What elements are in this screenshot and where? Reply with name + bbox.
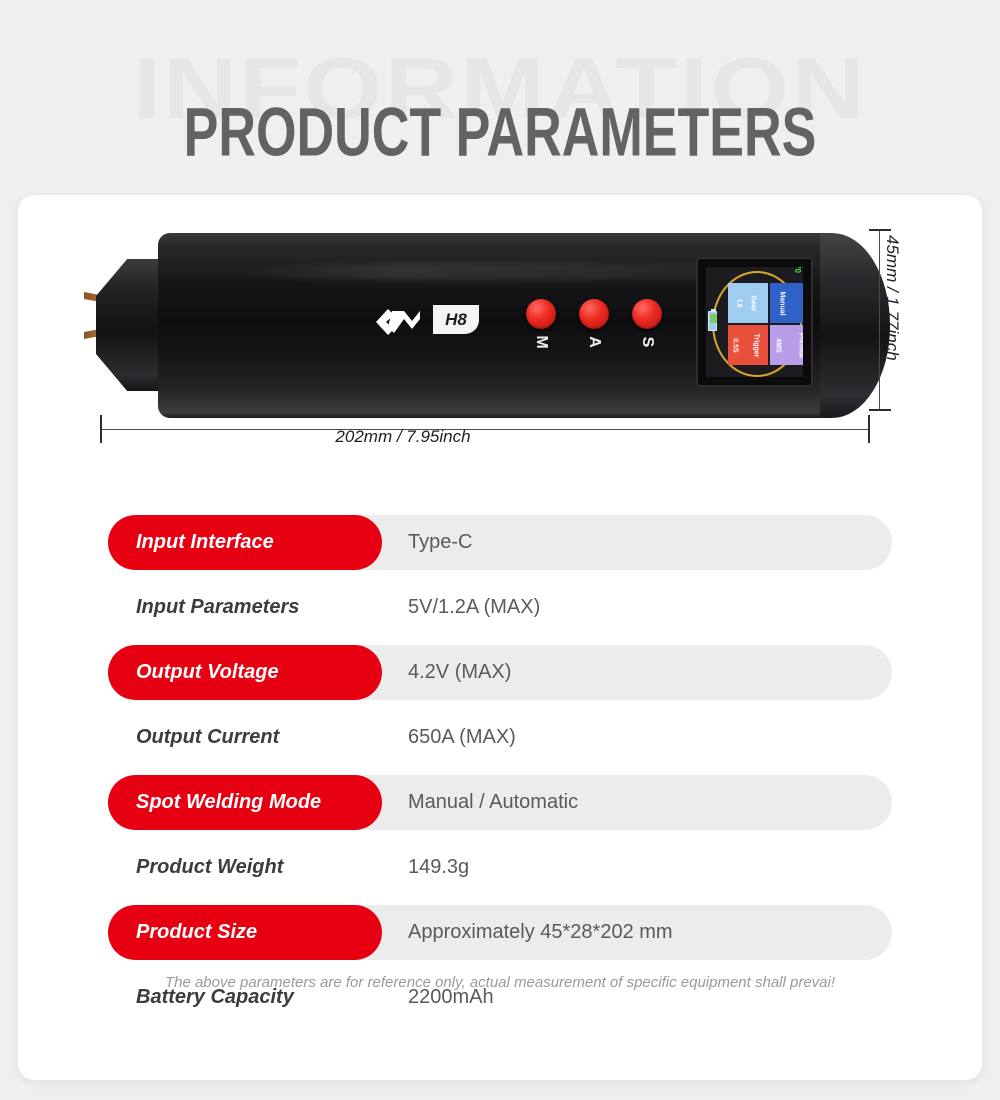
mode-button[interactable] <box>526 299 556 329</box>
spec-value: 4.2V (MAX) <box>408 661 511 684</box>
device-screen: T:270 L6 Gear Manual Mode 0.5S Trigger <box>706 267 803 377</box>
spec-row: Product Size Approximately 45*28*202 mm <box>18 905 982 960</box>
brand-logo-icon <box>374 305 422 339</box>
device-body: H8 M A S T:270 L6 Gear <box>158 233 886 418</box>
battery-icon <box>708 311 717 331</box>
spec-label: Input Parameters <box>108 580 382 635</box>
spec-row: Spot Welding Mode Manual / Automatic <box>18 775 982 830</box>
screen-tile-trigger-value: 0.5S <box>732 338 739 352</box>
model-badge: H8 <box>433 305 479 334</box>
spec-value: Type-C <box>408 531 472 554</box>
spec-row: Output Voltage 4.2V (MAX) <box>18 645 982 700</box>
spec-value: Manual / Automatic <box>408 791 578 814</box>
product-illustration: H8 M A S T:270 L6 Gear <box>18 195 982 495</box>
spec-label: Output Voltage <box>108 645 382 700</box>
screen-tile-preheat-title: Preheat <box>797 332 803 358</box>
screen-tile-mode-value: Manual <box>779 291 786 315</box>
spec-value: Approximately 45*28*202 mm <box>408 921 673 944</box>
spec-label: Output Current <box>108 710 382 765</box>
screen-tile-trigger: 0.5S Trigger <box>728 325 768 365</box>
spec-label: Input Interface <box>108 515 382 570</box>
content-card: H8 M A S T:270 L6 Gear <box>18 195 982 1080</box>
screen-tile-gear-title: Gear <box>750 295 757 311</box>
device-screen-bezel: T:270 L6 Gear Manual Mode 0.5S Trigger <box>696 257 813 387</box>
spec-row: Input Interface Type-C <box>18 515 982 570</box>
spec-row: Product Weight 149.3g <box>18 840 982 895</box>
spec-row: Output Current 650A (MAX) <box>18 710 982 765</box>
mode-button-label: M <box>532 327 550 357</box>
spec-value: 2200mAh <box>408 986 494 1009</box>
spec-label: Battery Capacity <box>108 970 382 1025</box>
screen-tile-trigger-title: Trigger <box>753 333 760 357</box>
page-title: PRODUCT PARAMETERS <box>35 98 965 166</box>
spec-value: 5V/1.2A (MAX) <box>408 596 540 619</box>
screen-tile-gear: L6 Gear <box>728 283 768 323</box>
spec-row: Input Parameters 5V/1.2A (MAX) <box>18 580 982 635</box>
spec-value: 650A (MAX) <box>408 726 516 749</box>
screen-temperature: T:270 <box>793 267 802 273</box>
set-button[interactable] <box>632 299 662 329</box>
screen-tiles: L6 Gear Manual Mode 0.5S Trigger 4MS <box>728 283 790 365</box>
auto-button-label: A <box>585 327 603 357</box>
screen-tile-preheat: 4MS Preheat <box>770 325 803 365</box>
page-header: INFORMATION PRODUCT PARAMETERS <box>0 0 1000 195</box>
length-dimension-label: 202mm / 7.95inch <box>18 427 788 447</box>
spec-label: Product Size <box>108 905 382 960</box>
screen-tile-gear-value: L6 <box>736 299 743 307</box>
spec-label: Product Weight <box>108 840 382 895</box>
height-dimension-label: 45mm / 1.77inch <box>882 235 902 361</box>
set-button-label: S <box>638 327 656 357</box>
screen-tile-mode: Manual Mode <box>770 283 803 323</box>
screen-tile-preheat-value: 4MS <box>775 338 782 352</box>
auto-button[interactable] <box>579 299 609 329</box>
spec-table: Input Interface Type-C Input Parameters … <box>18 515 982 1025</box>
spec-value: 149.3g <box>408 856 469 879</box>
spec-label: Spot Welding Mode <box>108 775 382 830</box>
screen-tile-mode-title: Mode <box>802 294 803 312</box>
